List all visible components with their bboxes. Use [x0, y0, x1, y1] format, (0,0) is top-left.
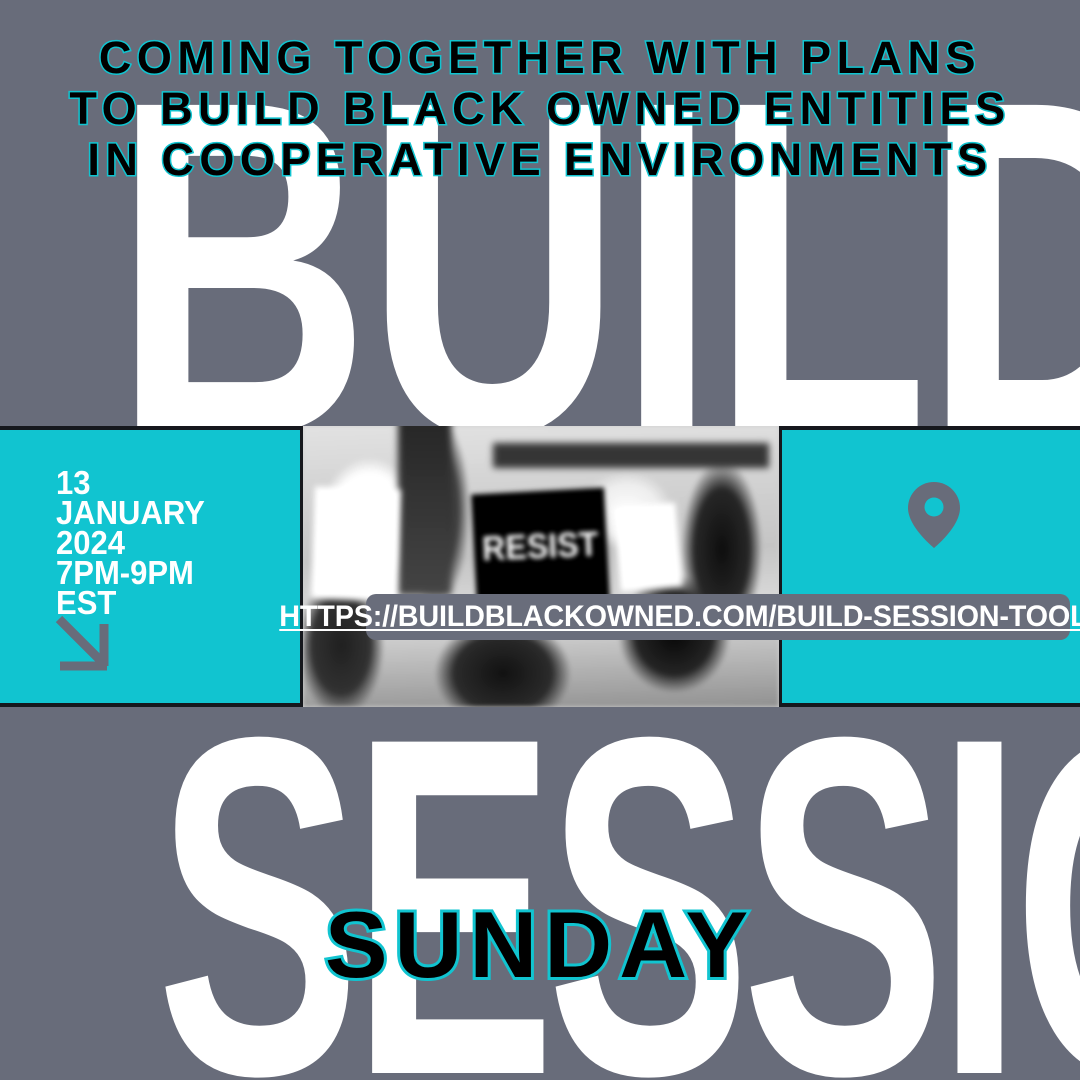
- photo-background: RESIST: [303, 426, 779, 707]
- event-url-text[interactable]: HTTPS://BUILDBLACKOWNED.COM/BUILD-SESSIO…: [279, 600, 1080, 634]
- arrow-down-right-icon: [54, 614, 116, 676]
- wordmark-session: SESSION: [157, 672, 924, 1080]
- photo-placard-left: [311, 486, 401, 601]
- photo-tree: [398, 426, 450, 595]
- headline: COMING TOGETHER WITH PLANS TO BUILD BLAC…: [0, 32, 1080, 185]
- event-flyer: BUILD COMING TOGETHER WITH PLANS TO BUIL…: [0, 0, 1080, 1080]
- headline-line-2: TO BUILD BLACK OWNED ENTITIES: [0, 83, 1080, 134]
- event-date-block: 13 JANUARY 2024 7PM-9PM EST: [56, 468, 205, 618]
- event-url-pill[interactable]: HTTPS://BUILDBLACKOWNED.COM/BUILD-SESSIO…: [366, 594, 1070, 640]
- headline-line-3: IN COOPERATIVE ENVIRONMENTS: [0, 134, 1080, 185]
- photo-sign-text: RESIST: [482, 524, 600, 569]
- headline-line-1: COMING TOGETHER WITH PLANS: [0, 32, 1080, 83]
- photo-protest-sign: RESIST: [472, 487, 611, 606]
- event-weekday: SUNDAY: [0, 898, 1080, 992]
- event-photo: RESIST: [300, 426, 782, 707]
- map-pin-icon: [908, 482, 960, 548]
- photo-backdrop-bar: [493, 443, 769, 468]
- photo-placard-right: [614, 502, 683, 591]
